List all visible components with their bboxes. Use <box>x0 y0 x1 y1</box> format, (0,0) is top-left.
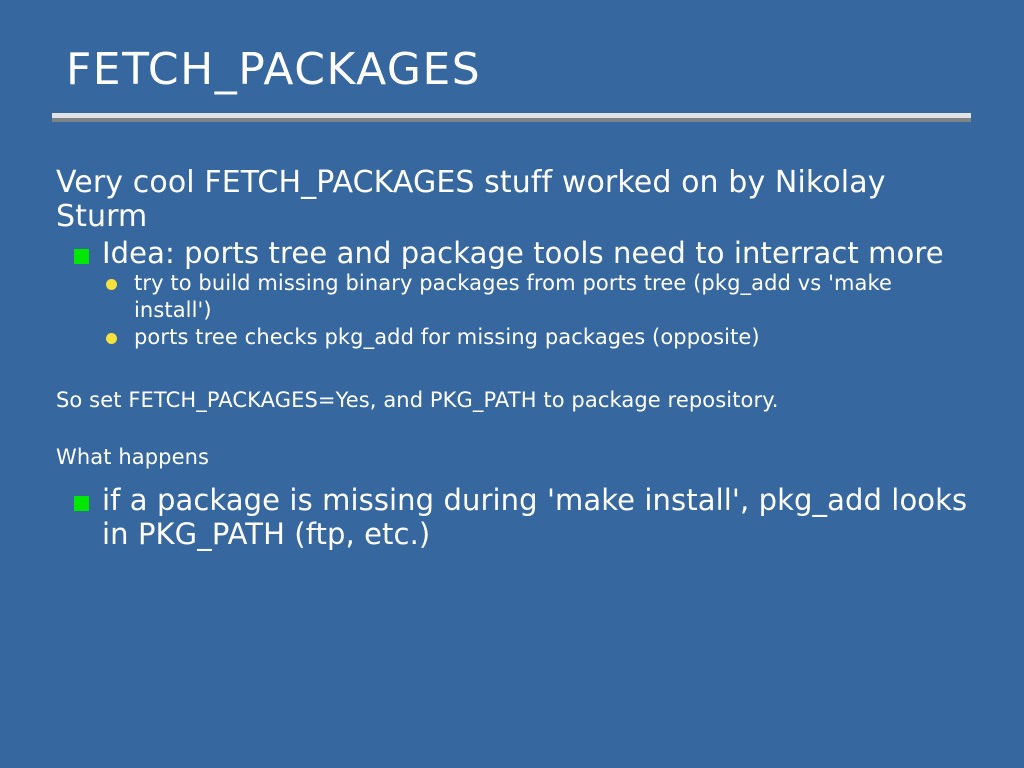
bullet-what-happens-label: if a package is missing during 'make ins… <box>102 483 967 551</box>
dot-bullet-icon <box>106 279 117 290</box>
slide: FETCH_PACKAGES Very cool FETCH_PACKAGES … <box>0 0 1024 768</box>
dot-bullet-icon <box>106 333 117 344</box>
title-block: FETCH_PACKAGES <box>52 44 972 96</box>
title-divider <box>52 113 971 118</box>
square-bullet-icon <box>74 496 89 511</box>
sub-bullet-build-missing: try to build missing binary packages fro… <box>56 270 976 324</box>
square-bullet-icon <box>74 249 89 264</box>
bullet-what-happens: if a package is missing during 'make ins… <box>56 483 976 551</box>
bullet-idea: Idea: ports tree and package tools need … <box>56 236 976 270</box>
sub-bullet-build-missing-label: try to build missing binary packages fro… <box>134 271 892 322</box>
so-set-paragraph: So set FETCH_PACKAGES=Yes, and PKG_PATH … <box>56 387 976 414</box>
spacer <box>56 471 976 483</box>
intro-paragraph: Very cool FETCH_PACKAGES stuff worked on… <box>56 166 976 234</box>
slide-body: Very cool FETCH_PACKAGES stuff worked on… <box>56 166 976 551</box>
page-title: FETCH_PACKAGES <box>52 44 972 96</box>
spacer <box>56 351 976 387</box>
what-happens-label: What happens <box>56 444 976 471</box>
bullet-idea-label: Idea: ports tree and package tools need … <box>102 236 944 270</box>
spacer <box>56 414 976 444</box>
sub-bullet-ports-tree-checks-label: ports tree checks pkg_add for missing pa… <box>134 325 760 349</box>
sub-bullet-ports-tree-checks: ports tree checks pkg_add for missing pa… <box>56 324 976 351</box>
